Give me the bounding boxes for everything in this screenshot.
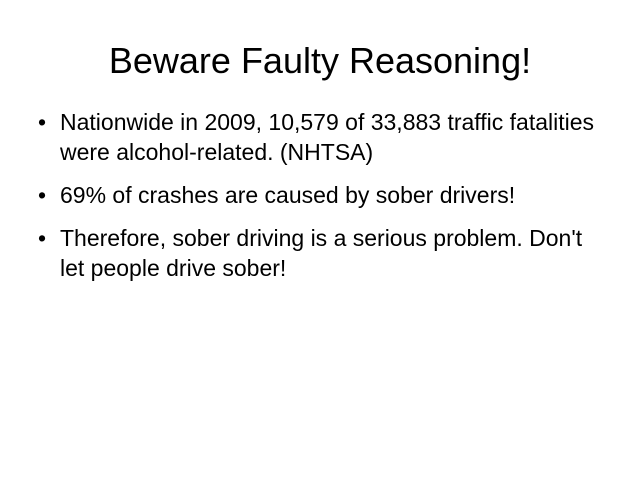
- list-item: • 69% of crashes are caused by sober dri…: [30, 180, 610, 210]
- bullet-list: • Nationwide in 2009, 10,579 of 33,883 t…: [30, 107, 610, 283]
- bullet-point-icon: •: [38, 180, 46, 210]
- list-item-text: 69% of crashes are caused by sober drive…: [60, 180, 610, 210]
- list-item-text: Therefore, sober driving is a serious pr…: [60, 223, 610, 283]
- list-item-text: Nationwide in 2009, 10,579 of 33,883 tra…: [60, 107, 610, 167]
- bullet-point-icon: •: [38, 107, 46, 137]
- slide: Beware Faulty Reasoning! • Nationwide in…: [0, 0, 640, 480]
- list-item: • Therefore, sober driving is a serious …: [30, 223, 610, 283]
- bullet-point-icon: •: [38, 223, 46, 253]
- page-title: Beware Faulty Reasoning!: [0, 40, 640, 82]
- list-item: • Nationwide in 2009, 10,579 of 33,883 t…: [30, 107, 610, 167]
